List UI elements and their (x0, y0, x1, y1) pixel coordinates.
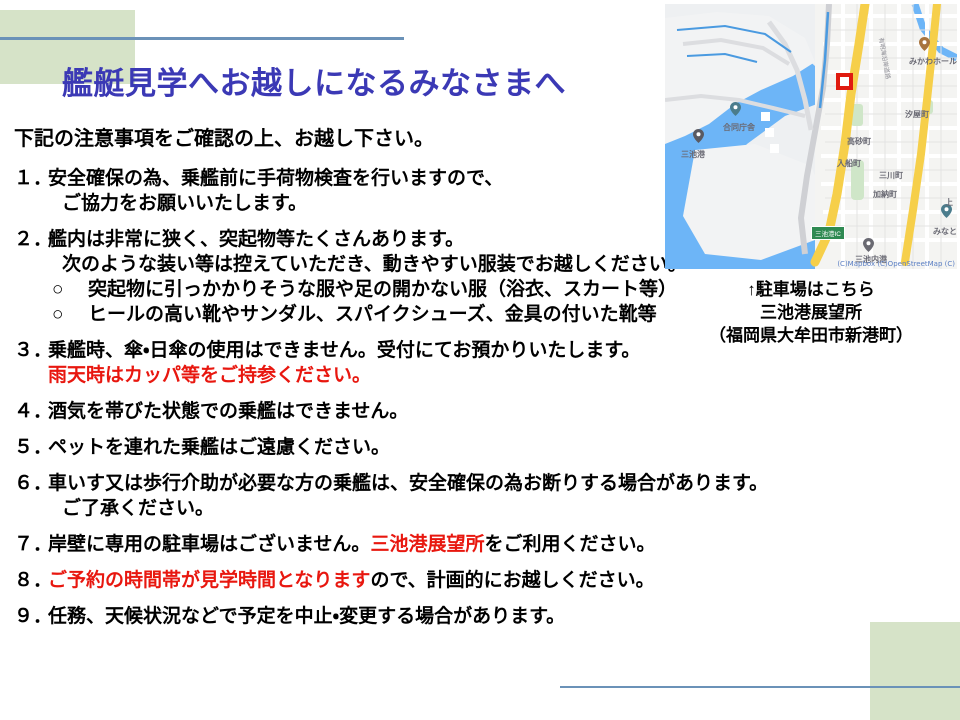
location-map[interactable]: 有明海沿岸道路 合同庁舎 三池港 みかわホール 汐屋町 高砂町 入船町 三川町 … (665, 4, 957, 269)
map-caption-line-1: ↑駐車場はこちら (662, 278, 960, 301)
item-text-prefix: 岸壁に専用の駐車場はございません。 (48, 534, 370, 555)
map-label-kanoumachi: 加納町 (873, 189, 897, 200)
item-number: ９． (14, 604, 48, 629)
slide-root: 艦艇見学へお越しになるみなさまへ 下記の注意事項をご確認の上、お越し下さい。 １… (0, 0, 960, 720)
item-line: ペットを連れた乗艦はご遠慮ください。 (48, 435, 814, 460)
page-title: 艦艇見学へお越しになるみなさまへ (62, 58, 566, 103)
item-body: ペットを連れた乗艦はご遠慮ください。 (48, 435, 814, 460)
lead-text: 下記の注意事項をご確認の上、お越し下さい。 (14, 122, 434, 151)
decor-green-block-bottom-right (870, 622, 960, 720)
list-item: ７． 岸壁に専用の駐車場はございません。三池港展望所をご利用ください。 (14, 532, 814, 557)
item-body: 任務、天候状況などで予定を中止・変更する場合があります。 (48, 604, 814, 629)
item-number: ８． (14, 568, 48, 593)
map-pin-icon (693, 129, 704, 143)
item-line: 任務、天候状況などで予定を中止・変更する場合があります。 (48, 604, 814, 629)
map-label-mikawahall: みかわホール (909, 56, 957, 67)
map-label-kami: 上 (945, 197, 953, 208)
map-label-miikeko: 三池港 (681, 149, 705, 160)
circle-bullet-icon: ○ (48, 277, 88, 302)
map-pin-icon (919, 37, 930, 51)
map-caption-line-3: （福岡県大牟田市新港町） (662, 324, 960, 347)
map-pin-icon (730, 102, 741, 116)
item-number: ３． (14, 338, 48, 363)
item-line: 岸壁に専用の駐車場はございません。三池港展望所をご利用ください。 (48, 532, 814, 557)
item-body: ご予約の時間帯が見学時間となりますので、計画的にお越しください。 (48, 568, 814, 593)
map-label-takasagomachi: 高砂町 (847, 136, 871, 147)
item-number: １． (14, 166, 48, 191)
map-label-mikawamachi: 三川町 (879, 170, 903, 181)
item-text-highlight: ご予約の時間帯が見学時間となります (48, 570, 370, 591)
item-text-highlight: 三池港展望所 (370, 534, 484, 555)
map-label-irifunemachi: 入船町 (837, 158, 861, 169)
item-line: ご予約の時間帯が見学時間となりますので、計画的にお越しください。 (48, 568, 814, 593)
list-item: ５． ペットを連れた乗艦はご遠慮ください。 (14, 435, 814, 460)
item-line: ご了承ください。 (48, 496, 814, 521)
map-caption: ↑駐車場はこちら 三池港展望所 （福岡県大牟田市新港町） (662, 278, 960, 347)
item-number: ５． (14, 435, 48, 460)
item-body: 岸壁に専用の駐車場はございません。三池港展望所をご利用ください。 (48, 532, 814, 557)
map-label-godochosha: 合同庁舎 (723, 122, 755, 133)
item-line: 酒気を帯びた状態での乗艦はできません。 (48, 399, 814, 424)
map-attribution: (C)Mapbox (C)OpenStreetMap (C) (837, 260, 955, 268)
circle-bullet-icon: ○ (48, 302, 88, 327)
decor-blue-rule-top (0, 37, 404, 40)
decor-blue-rule-bottom (560, 686, 960, 688)
red-square-marker-icon (836, 73, 853, 90)
map-road-sign-miike-ic: 三池港IC (811, 226, 845, 240)
item-text-suffix: をご利用ください。 (484, 534, 655, 555)
item-line-warning: 雨天時はカッパ等をご持参ください。 (48, 363, 814, 388)
item-body: 酒気を帯びた状態での乗艦はできません。 (48, 399, 814, 424)
list-item: ９． 任務、天候状況などで予定を中止・変更する場合があります。 (14, 604, 814, 629)
item-number: ６． (14, 471, 48, 496)
map-label-shioyamachi: 汐屋町 (905, 109, 929, 120)
list-item: ４． 酒気を帯びた状態での乗艦はできません。 (14, 399, 814, 424)
item-line: 車いす又は歩行介助が必要な方の乗艦は、安全確保の為お断りする場合があります。 (48, 471, 814, 496)
item-number: ７． (14, 532, 48, 557)
list-item: ６． 車いす又は歩行介助が必要な方の乗艦は、安全確保の為お断りする場合があります… (14, 471, 814, 521)
item-number: ２． (14, 227, 48, 252)
item-number: ４． (14, 399, 48, 424)
map-pin-icon (863, 238, 874, 252)
item-text-suffix: ので、計画的にお越しください。 (370, 570, 654, 591)
item-body: 車いす又は歩行介助が必要な方の乗艦は、安全確保の為お断りする場合があります。 ご… (48, 471, 814, 521)
list-item: ８． ご予約の時間帯が見学時間となりますので、計画的にお越しください。 (14, 568, 814, 593)
map-label-minato: みなと (933, 226, 957, 237)
map-caption-line-2: 三池港展望所 (662, 301, 960, 324)
